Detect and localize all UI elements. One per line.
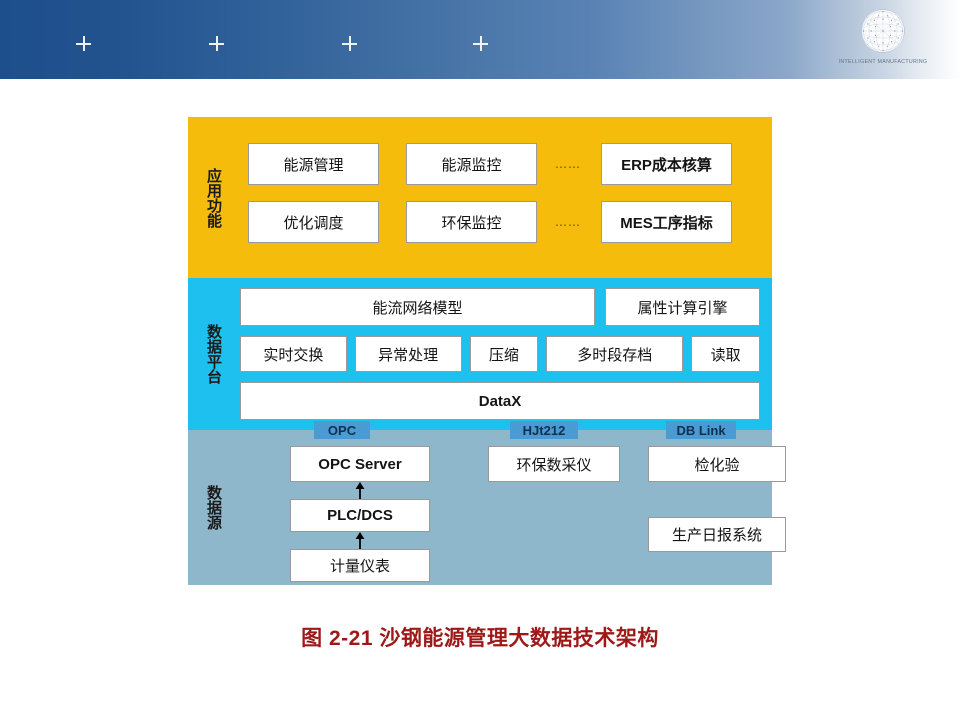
source-box-plc-dcs[interactable]: PLC/DCS	[290, 499, 430, 532]
app-box-erp-cost-accounting[interactable]: ERP成本核算	[601, 143, 732, 185]
brand-logo: INTELLIGENT MANUFACTURING	[824, 2, 942, 78]
architecture-diagram: 应用功能 能源管理 能源监控 …… ERP成本核算 优化调度 环保监控 …… M…	[188, 117, 772, 598]
platform-row-datax: DataX	[240, 382, 760, 420]
source-box-opc-server[interactable]: OPC Server	[290, 446, 430, 482]
layer-body-application: 能源管理 能源监控 …… ERP成本核算 优化调度 环保监控 …… MES工序指…	[238, 117, 772, 278]
app-box-optimized-scheduling[interactable]: 优化调度	[248, 201, 379, 243]
app-box-mes-process-indicators[interactable]: MES工序指标	[601, 201, 732, 243]
platform-box-compression[interactable]: 压缩	[470, 336, 539, 372]
layer-data-source: 数据源 OPC HJt212 DB Link OPC Server PLC/DC…	[188, 430, 772, 585]
platform-box-read[interactable]: 读取	[691, 336, 760, 372]
plus-decoration-icon	[473, 36, 488, 51]
source-box-metering-instruments[interactable]: 计量仪表	[290, 549, 430, 582]
plus-decoration-icon	[342, 36, 357, 51]
app-box-energy-management[interactable]: 能源管理	[248, 143, 379, 185]
platform-row-models: 能流网络模型 属性计算引擎	[240, 288, 760, 326]
layer-data-platform: 数据平台 能流网络模型 属性计算引擎 实时交换 异常处理 压缩 多时段存档 读取…	[188, 278, 772, 430]
source-box-production-daily-report-system[interactable]: 生产日报系统	[648, 517, 786, 552]
source-box-environmental-data-collector[interactable]: 环保数采仪	[488, 446, 620, 482]
protocol-tab-hjt212[interactable]: HJt212	[510, 421, 578, 439]
protocol-tab-opc[interactable]: OPC	[314, 421, 370, 439]
platform-box-energy-flow-network-model[interactable]: 能流网络模型	[240, 288, 595, 326]
layer-label-data-platform: 数据平台	[188, 278, 238, 430]
app-ellipsis: ……	[537, 157, 599, 171]
layer-label-application: 应用功能	[188, 117, 238, 278]
platform-box-multi-period-archive[interactable]: 多时段存档	[546, 336, 683, 372]
app-box-energy-monitoring[interactable]: 能源监控	[406, 143, 537, 185]
app-ellipsis: ……	[537, 215, 599, 229]
network-sphere-logo-icon	[856, 4, 910, 58]
plus-decoration-icon	[209, 36, 224, 51]
arrow-up-icon	[353, 532, 367, 549]
arrow-up-icon	[353, 482, 367, 499]
layer-body-data-platform: 能流网络模型 属性计算引擎 实时交换 异常处理 压缩 多时段存档 读取 Data…	[238, 278, 772, 430]
plus-decoration-icon	[76, 36, 91, 51]
source-box-inspection-testing[interactable]: 检化验	[648, 446, 786, 482]
platform-box-datax[interactable]: DataX	[240, 382, 760, 420]
header-banner: INTELLIGENT MANUFACTURING	[0, 0, 960, 79]
app-row: 能源管理 能源监控 …… ERP成本核算	[242, 143, 762, 185]
platform-box-realtime-exchange[interactable]: 实时交换	[240, 336, 347, 372]
app-row: 优化调度 环保监控 …… MES工序指标	[242, 201, 762, 243]
logo-text: INTELLIGENT MANUFACTURING	[839, 59, 928, 65]
app-box-environmental-monitoring[interactable]: 环保监控	[406, 201, 537, 243]
figure-caption: 图 2-21 沙钢能源管理大数据技术架构	[0, 622, 960, 652]
layer-application: 应用功能 能源管理 能源监控 …… ERP成本核算 优化调度 环保监控 …… M…	[188, 117, 772, 278]
layer-label-data-source: 数据源	[188, 430, 238, 585]
layer-body-data-source: OPC HJt212 DB Link OPC Server PLC/DCS 计量…	[238, 430, 772, 585]
platform-row-services: 实时交换 异常处理 压缩 多时段存档 读取	[240, 336, 760, 372]
platform-box-attribute-calculation-engine[interactable]: 属性计算引擎	[605, 288, 760, 326]
protocol-tab-db-link[interactable]: DB Link	[666, 421, 736, 439]
platform-box-exception-handling[interactable]: 异常处理	[355, 336, 462, 372]
